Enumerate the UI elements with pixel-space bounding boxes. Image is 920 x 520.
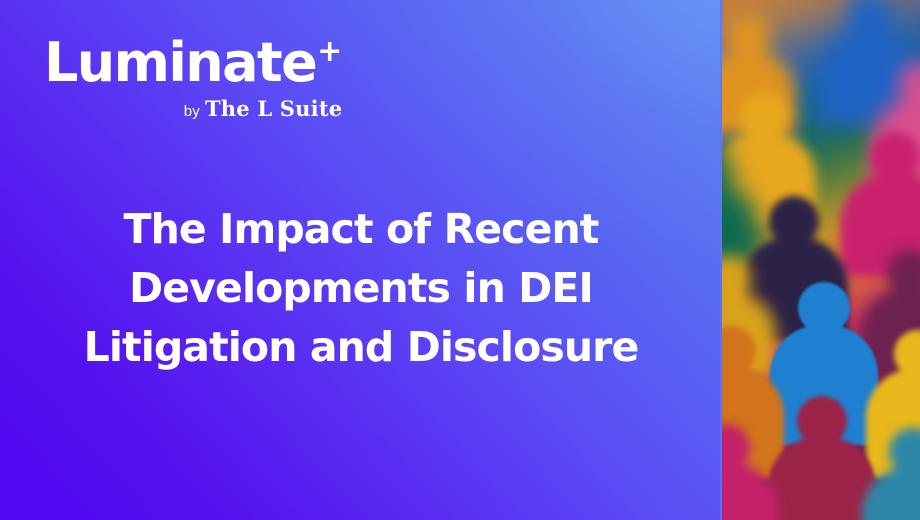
- title-line-1: The Impact of Recent: [46, 200, 676, 259]
- logo-wordmark: Luminate+: [44, 36, 342, 90]
- figurine: [862, 428, 920, 520]
- figurine: [722, 424, 778, 520]
- figurine-head: [726, 14, 770, 58]
- figurine-head: [870, 132, 920, 182]
- figurine: [768, 396, 876, 520]
- tagline-by-text: by: [184, 103, 200, 120]
- figurine-head: [740, 92, 788, 140]
- logo-wordmark-text: Luminate: [44, 31, 316, 94]
- title-card: Luminate+ byThe L Suite The Impact of Re…: [0, 0, 920, 520]
- diversity-photo: [722, 0, 920, 520]
- logo-tagline: byThe L Suite: [44, 96, 342, 121]
- logo-plus-icon: +: [317, 34, 342, 69]
- title-line-3: Litigation and Disclosure: [46, 318, 676, 377]
- brand-logo: Luminate+ byThe L Suite: [44, 36, 342, 121]
- figurine-head: [797, 396, 847, 446]
- figurine-body: [768, 437, 876, 520]
- figurine-head: [769, 196, 819, 246]
- page-title: The Impact of Recent Developments in DEI…: [46, 200, 676, 377]
- tagline-brand-name: The L Suite: [205, 96, 342, 121]
- figurine-head: [798, 282, 850, 334]
- figurine-body: [722, 463, 778, 520]
- figurine-head: [722, 326, 756, 376]
- title-line-2: Developments in DEI: [46, 259, 676, 318]
